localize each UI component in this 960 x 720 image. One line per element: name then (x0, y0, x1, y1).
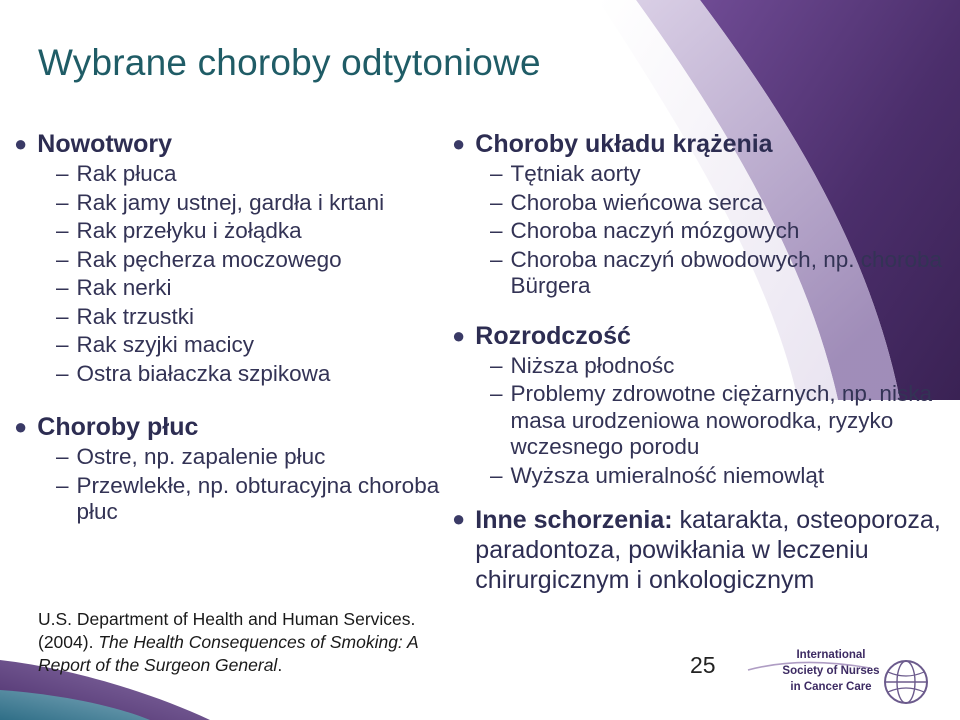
list-item: –Rak płuca (14, 161, 464, 188)
list-item: –Rak nerki (14, 275, 464, 302)
heading-choroby-ukladu-krazenia: ● Choroby układu krążenia (452, 130, 952, 159)
list-item: –Rak pęcherza moczowego (14, 247, 464, 274)
en-dash-icon: – (56, 332, 69, 359)
citation-plain-2: . (277, 655, 282, 675)
en-dash-icon: – (490, 218, 503, 245)
logo-line-2: Society of Nurses (766, 664, 896, 680)
list-item: –Ostra białaczka szpikowa (14, 361, 464, 388)
bullet-dot-icon: ● (452, 323, 465, 349)
bullet-dot-icon: ● (452, 131, 465, 157)
en-dash-icon: – (56, 473, 69, 500)
list-item: –Przewlekłe, np. obturacyjna choroba płu… (14, 473, 464, 526)
en-dash-icon: – (56, 444, 69, 471)
inline-lead-label: Inne schorzenia: (475, 506, 672, 534)
heading-choroby-pluc: ● Choroby płuc (14, 413, 464, 442)
en-dash-icon: – (490, 381, 503, 408)
bullet-dot-icon: ● (452, 506, 465, 532)
list-item: –Tętniak aorty (452, 161, 952, 188)
list-item: –Choroba naczyń mózgowych (452, 218, 952, 245)
page-title: Wybrane choroby odtytoniowe (38, 42, 541, 84)
list-item: –Niższa płodnośc (452, 353, 952, 380)
en-dash-icon: – (56, 190, 69, 217)
list-item: –Ostre, np. zapalenie płuc (14, 444, 464, 471)
list-item: –Rak trzustki (14, 304, 464, 331)
bullet-dot-icon: ● (14, 131, 27, 157)
logo-text: International Society of Nurses in Cance… (766, 648, 896, 696)
list-item: –Rak przełyku i żołądka (14, 218, 464, 245)
inline-item-inne-schorzenia: ● Inne schorzenia: katarakta, osteoporoz… (452, 505, 952, 595)
right-content-column: ● Choroby układu krążenia –Tętniak aorty… (452, 130, 952, 595)
list-item: –Wyższa umieralność niemowląt (452, 463, 952, 490)
heading-rozrodczosc: ● Rozrodczość (452, 322, 952, 351)
slide: Wybrane choroby odtytoniowe ● Nowotwory … (0, 0, 960, 720)
logo-line-3: in Cancer Care (766, 680, 896, 696)
en-dash-icon: – (56, 304, 69, 331)
bullet-dot-icon: ● (14, 414, 27, 440)
en-dash-icon: – (490, 190, 503, 217)
en-dash-icon: – (56, 275, 69, 302)
list-item: –Problemy zdrowotne ciężarnych, np. nisk… (452, 381, 952, 461)
en-dash-icon: – (56, 218, 69, 245)
heading-nowotwory: ● Nowotwory (14, 130, 464, 159)
list-item: –Rak szyjki macicy (14, 332, 464, 359)
en-dash-icon: – (56, 161, 69, 188)
left-content-column: ● Nowotwory –Rak płuca –Rak jamy ustnej,… (14, 130, 464, 526)
page-number: 25 (690, 652, 716, 679)
en-dash-icon: – (56, 247, 69, 274)
en-dash-icon: – (490, 247, 503, 274)
list-item: –Rak jamy ustnej, gardła i krtani (14, 190, 464, 217)
logo-line-1: International (766, 648, 896, 664)
list-item: –Choroba naczyń obwodowych, np. choroba … (452, 247, 952, 300)
en-dash-icon: – (490, 161, 503, 188)
list-item: –Choroba wieńcowa serca (452, 190, 952, 217)
en-dash-icon: – (490, 463, 503, 490)
en-dash-icon: – (490, 353, 503, 380)
citation-block: U.S. Department of Health and Human Serv… (38, 608, 438, 677)
en-dash-icon: – (56, 361, 69, 388)
